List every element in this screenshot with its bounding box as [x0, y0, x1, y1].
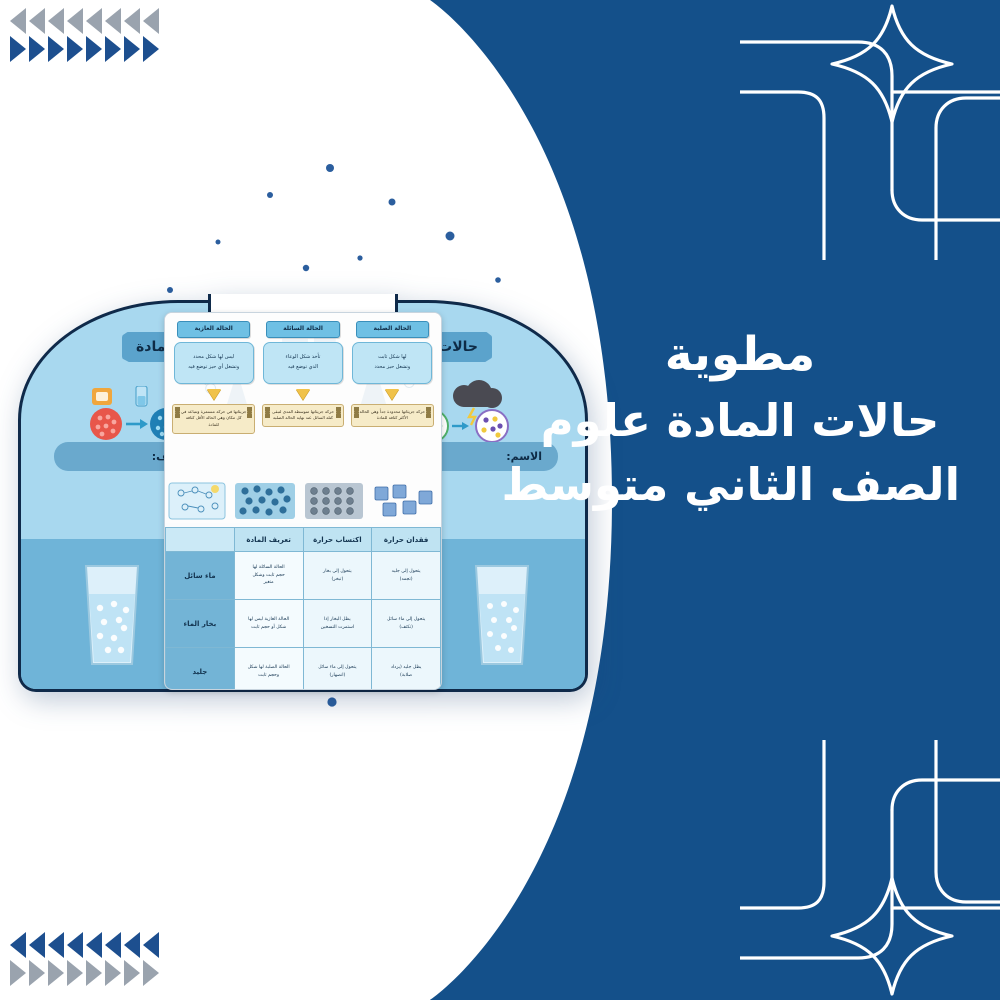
triangle-row-gray: [10, 960, 159, 986]
cell-definition: الحالة السائلة لها حجم ثابت وشكل متغير: [234, 552, 303, 600]
corner-triangles-bottomleft: [10, 932, 159, 986]
triangle-icon: [67, 960, 83, 986]
state-header-gas: الحالة الغازية: [177, 321, 250, 338]
corner-triangles-topleft: [10, 8, 159, 62]
triangle-icon: [67, 8, 83, 34]
water-glass-left: [74, 560, 150, 670]
triangle-icon: [86, 932, 102, 958]
state-bubble-line-2: وتشغل أي حيز توضع فيه: [179, 364, 249, 372]
table-body: يتحول إلى جليد (تجمد) يتحول إلى بخار (تب…: [166, 552, 441, 691]
triangle-icon: [29, 960, 45, 986]
table-row: يظل جليد (يزداد صلابة) يتحول إلى ماء سائ…: [166, 648, 441, 691]
triangle-icon: [124, 960, 140, 986]
column-header-definition: تعريف المادة: [234, 528, 303, 552]
triangle-row-blue: [10, 932, 159, 958]
state-note-solid: حركة جزيئاتها محدودة جداً وهي الحالة الأ…: [351, 404, 434, 427]
title-line-2: حالات المادة علوم: [520, 389, 960, 453]
states-of-matter-table: فقدان حرارة اكتساب حرارة تعريف المادة يت…: [165, 527, 441, 690]
cell-state-name: جليد: [166, 648, 235, 691]
cell-line: صلابة): [374, 672, 438, 680]
cell-line: يظل جليد (يزداد: [374, 664, 438, 672]
poster-title: مطوية حالات المادة علوم الصف الثاني متوس…: [520, 322, 960, 517]
state-bubble-line-2: وتشغل حيز محدد: [357, 364, 427, 372]
triangle-icon: [10, 36, 26, 62]
table-row: يتحول إلى ماء سائل (تكثف) يظل البخار إذا…: [166, 600, 441, 648]
cell-lose-heat: يتحول إلى ماء سائل (تكثف): [372, 600, 441, 648]
triangle-icon: [29, 36, 45, 62]
cell-line: يتحول إلى بخار: [306, 568, 370, 576]
state-note-gas: جزيئاتها في حركة مستمرة وتتباعد في كل مك…: [172, 404, 255, 434]
triangle-icon: [48, 960, 64, 986]
title-line-1: مطوية: [520, 322, 960, 389]
particle-models-strip: [164, 479, 441, 523]
triangle-icon: [86, 36, 102, 62]
triangle-icon: [105, 36, 121, 62]
state-bubble-line-1: لها شكل ثابت: [357, 354, 427, 362]
cell-line: استمرت التسخين: [306, 624, 370, 632]
triangle-icon: [143, 36, 159, 62]
cell-line: يتحول إلى ماء سائل: [374, 616, 438, 624]
cloud-icon: [453, 380, 502, 408]
table-header-row: فقدان حرارة اكتساب حرارة تعريف المادة: [166, 528, 441, 552]
triangle-icon: [124, 36, 140, 62]
cell-line: الحالة السائلة لها: [237, 564, 301, 572]
cell-lose-heat: يظل جليد (يزداد صلابة): [372, 648, 441, 691]
cell-line: وحجم ثابت: [237, 672, 301, 680]
triangle-icon: [143, 8, 159, 34]
cell-lose-heat: يتحول إلى جليد (تجمد): [372, 552, 441, 600]
triangle-icon: [48, 8, 64, 34]
cell-state-name: ماء سائل: [166, 552, 235, 600]
triangle-icon: [48, 36, 64, 62]
triangle-icon: [105, 8, 121, 34]
triangle-icon: [143, 960, 159, 986]
triangle-icon: [10, 932, 26, 958]
worksheet-card[interactable]: الحالة الصلبة لها شكل ثابت وتشغل حيز محد…: [164, 312, 442, 690]
triangle-icon: [67, 932, 83, 958]
triangle-icon: [86, 8, 102, 34]
triangle-icon: [86, 960, 102, 986]
cell-gain-heat: يتحول إلى ماء سائل (انصهار): [303, 648, 372, 691]
four-point-star-icon: [832, 878, 952, 994]
water-glass-right: [464, 560, 540, 670]
state-header-solid: الحالة الصلبة: [356, 321, 429, 338]
triangle-icon: [10, 8, 26, 34]
triangle-icon: [67, 36, 83, 62]
cell-line: (تجمد): [374, 576, 438, 584]
cell-gain-heat: يتحول إلى بخار (تبخر): [303, 552, 372, 600]
cell-line: الحالة الصلبة لها شكل: [237, 664, 301, 672]
cell-gain-heat: يظل البخار إذا استمرت التسخين: [303, 600, 372, 648]
triangle-row-blue: [10, 36, 159, 62]
state-header-liquid: الحالة السائلة: [266, 321, 339, 338]
cell-line: (تكثف): [374, 624, 438, 632]
triangle-icon: [10, 960, 26, 986]
four-point-star-icon: [832, 6, 952, 122]
cell-line: (انصهار): [306, 672, 370, 680]
poster-canvas: مطوية حالات المادة علوم الصف الثاني متوس…: [0, 0, 1000, 1000]
triangle-icon: [124, 8, 140, 34]
states-panel: الحالة الصلبة لها شكل ثابت وتشغل حيز محد…: [165, 313, 441, 479]
cell-definition: الحالة الصلبة لها شكل وحجم ثابت: [234, 648, 303, 691]
cell-line: يتحول إلى جليد: [374, 568, 438, 576]
column-header-lose-heat: فقدان حرارة: [372, 528, 441, 552]
corner-frame-topright: [740, 0, 1000, 260]
triangle-icon: [105, 960, 121, 986]
state-bubble-line-1: ليس لها شكل محدد: [179, 354, 249, 362]
state-note-liquid: حركة جزيئاتها متوسطة المدى لتبقى كتلة ال…: [262, 404, 345, 427]
cell-line: يظل البخار إذا: [306, 616, 370, 624]
triangle-icon: [29, 8, 45, 34]
triangle-icon: [105, 932, 121, 958]
table-header: فقدان حرارة اكتساب حرارة تعريف المادة: [166, 528, 441, 552]
state-bubble-gas: ليس لها شكل محدد وتشغل أي حيز توضع فيه: [174, 342, 254, 384]
triangle-icon: [124, 932, 140, 958]
cell-line: متغير: [237, 579, 301, 587]
state-bubble-line-2: الذي توضع فيه: [268, 364, 338, 372]
column-header-state: [166, 528, 235, 552]
state-column-gas: الحالة الغازية ليس لها شكل محدد وتشغل أي…: [171, 321, 256, 475]
cell-line: شكل أو حجم ثابت: [237, 624, 301, 632]
title-line-3: الصف الثاني متوسط: [520, 453, 960, 517]
arrow-down-icon: [207, 389, 221, 400]
state-column-liquid: الحالة السائلة تأخذ شكل الوعاء الذي توضع…: [260, 321, 345, 475]
triangle-icon: [143, 932, 159, 958]
cell-line: حجم ثابت وشكل: [237, 572, 301, 580]
triangle-row-gray: [10, 8, 159, 34]
cell-line: يتحول إلى ماء سائل: [306, 664, 370, 672]
cell-line: الحالة الغازية ليس لها: [237, 616, 301, 624]
cell-definition: الحالة الغازية ليس لها شكل أو حجم ثابت: [234, 600, 303, 648]
arrow-down-icon: [296, 389, 310, 400]
triangle-icon: [29, 932, 45, 958]
table-row: يتحول إلى جليد (تجمد) يتحول إلى بخار (تب…: [166, 552, 441, 600]
lightning-icon: [469, 408, 475, 425]
state-bubble-line-1: تأخذ شكل الوعاء: [268, 354, 338, 362]
column-header-gain-heat: اكتساب حرارة: [303, 528, 372, 552]
cell-state-name: بخار الماء: [166, 600, 235, 648]
cell-line: (تبخر): [306, 576, 370, 584]
arrow-down-icon: [385, 389, 399, 400]
state-bubble-liquid: تأخذ شكل الوعاء الذي توضع فيه: [263, 342, 343, 384]
corner-frame-bottomright: [740, 740, 1000, 1000]
triangle-icon: [48, 932, 64, 958]
state-bubble-solid: لها شكل ثابت وتشغل حيز محدد: [352, 342, 432, 384]
state-column-solid: الحالة الصلبة لها شكل ثابت وتشغل حيز محد…: [350, 321, 435, 475]
